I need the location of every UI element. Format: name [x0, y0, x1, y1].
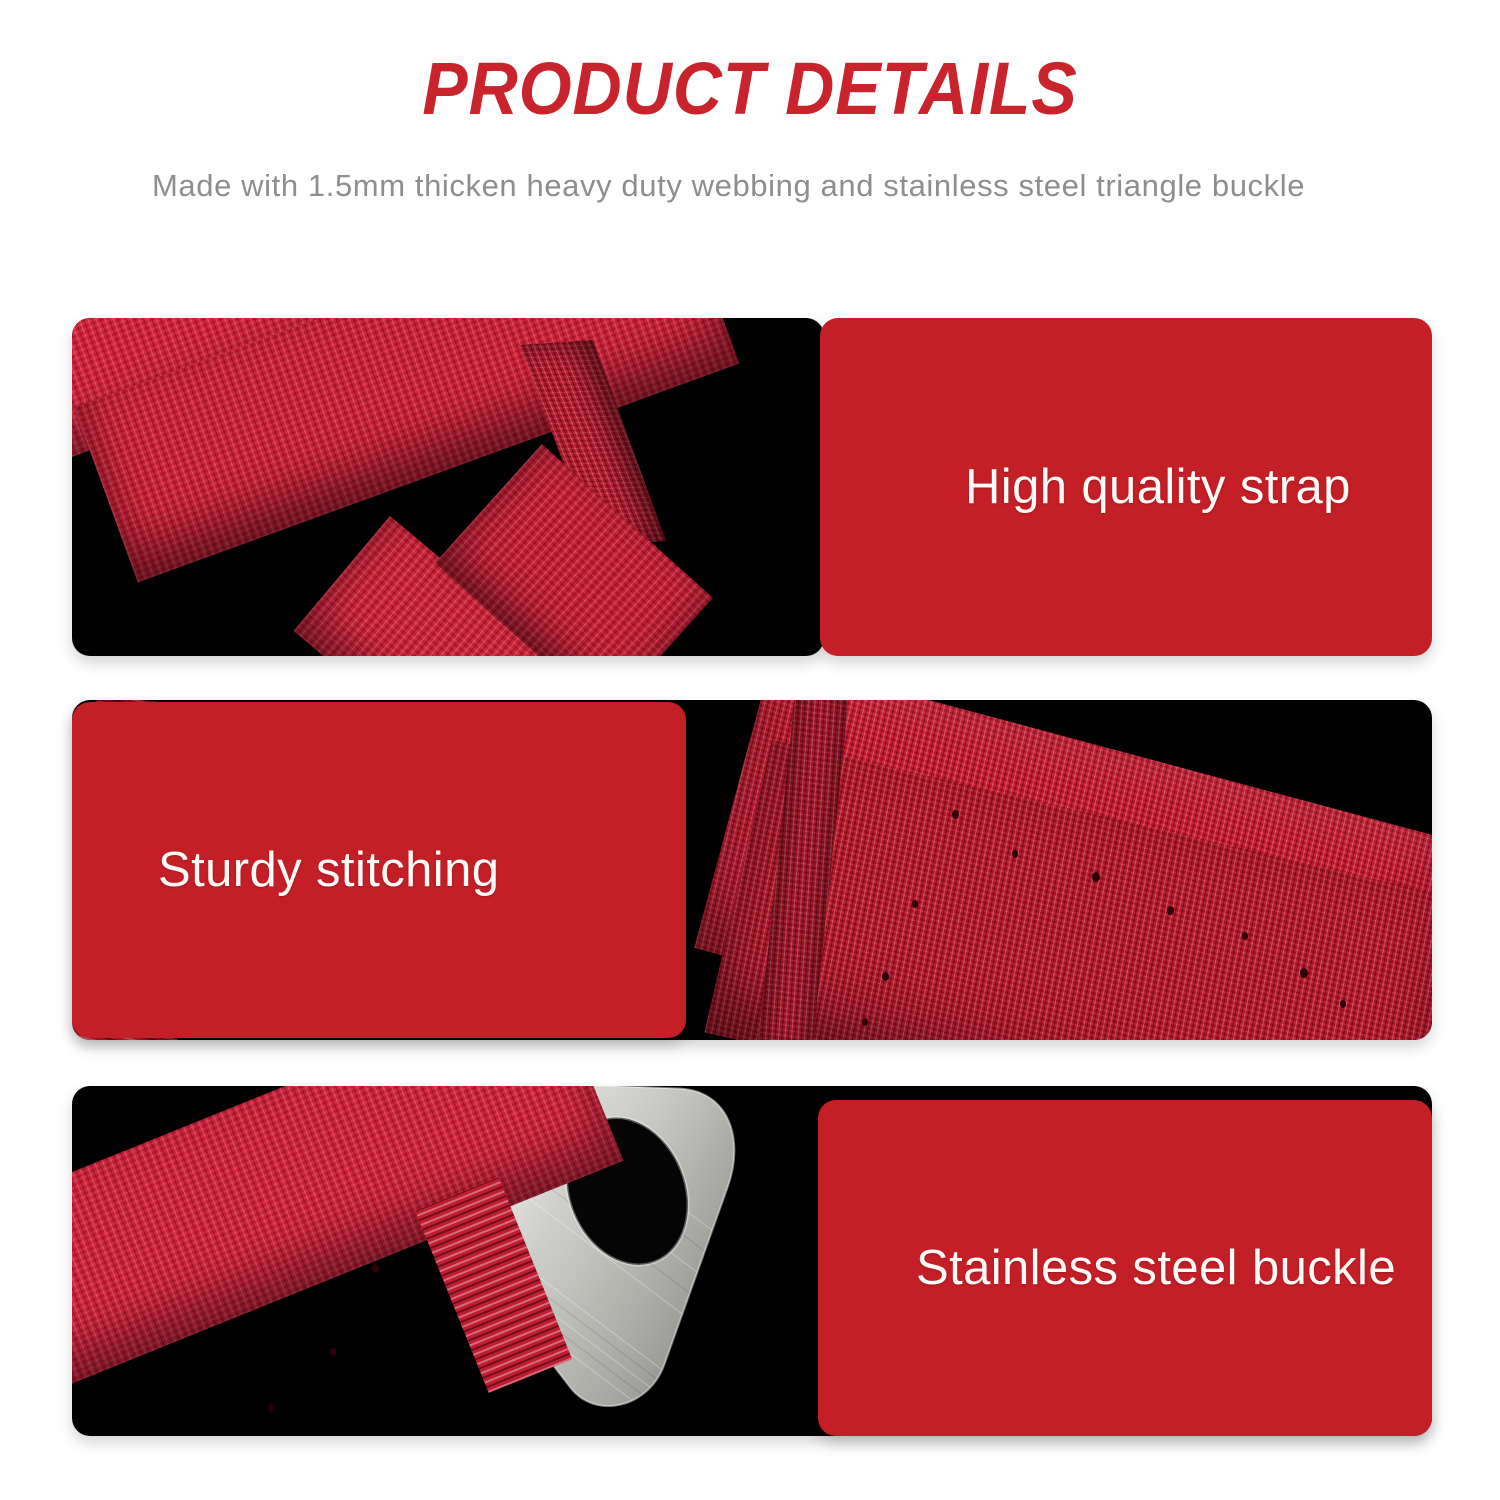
stitch-hole [1012, 850, 1018, 858]
stitch-hole [1092, 872, 1100, 882]
feature-label-card-1[interactable]: High quality strap [820, 318, 1432, 656]
page-subtitle: Made with 1.5mm thicken heavy duty webbi… [152, 166, 1382, 207]
stitch-hole [1300, 968, 1308, 978]
feature-row-stainless-steel-buckle: Stainless steel buckle [72, 1086, 1432, 1436]
stitch-hole [1167, 906, 1174, 915]
feature-label-text-3: Stainless steel buckle [916, 1240, 1396, 1296]
stitch-hole [862, 1018, 868, 1026]
stitch-hole [952, 810, 959, 819]
stitch-hole [330, 1348, 336, 1356]
feature-photo-high-quality-strap [72, 318, 824, 656]
feature-label-card-3[interactable]: Stainless steel buckle [818, 1100, 1432, 1436]
strap-photo-artwork [72, 318, 824, 656]
feature-row-high-quality-strap: High quality strap [72, 318, 1432, 656]
page-title: PRODUCT DETAILS [60, 52, 1440, 126]
feature-label-card-2[interactable]: Sturdy stitching [72, 702, 686, 1038]
stitch-hole [372, 1264, 379, 1273]
stitch-hole [1242, 932, 1248, 940]
stitch-hole [882, 972, 889, 981]
stitch-hole [912, 900, 918, 908]
feature-label-text-1: High quality strap [965, 459, 1351, 515]
stitch-hole [1340, 1000, 1346, 1008]
stitch-hole [268, 1404, 274, 1412]
feature-label-text-2: Sturdy stitching [158, 842, 499, 898]
feature-row-sturdy-stitching: Sturdy stitching [72, 700, 1432, 1040]
